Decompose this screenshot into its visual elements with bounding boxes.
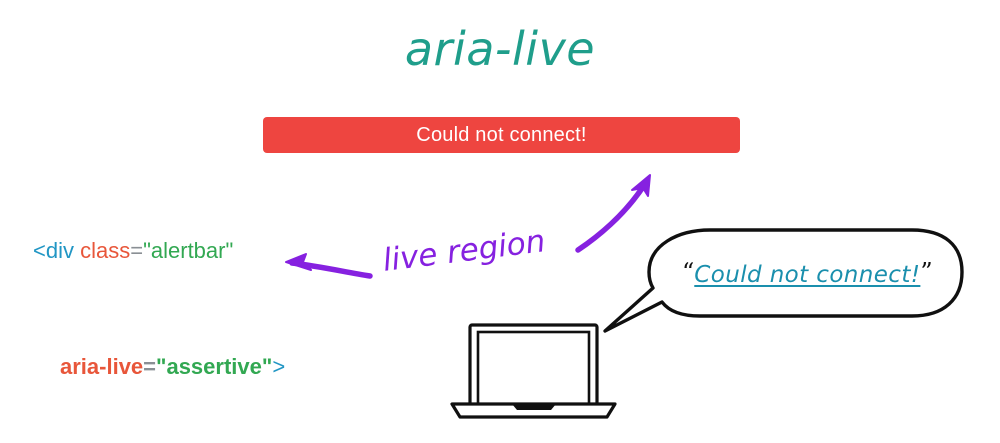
live-region-annotation: live region	[381, 223, 547, 279]
code-token-div-open: <div	[33, 238, 80, 263]
code-token-aria-live-attr: aria-live	[60, 354, 143, 379]
alert-bar-message: Could not connect!	[416, 124, 586, 147]
code-token-equals-1: =	[130, 238, 143, 263]
code-snippet: <div class="alertbar" aria-live="asserti…	[33, 178, 285, 443]
code-token-assertive-value: "assertive"	[156, 354, 272, 379]
code-token-class-attr: class	[80, 238, 130, 263]
speech-bubble-text: “Could not connect!”	[682, 258, 922, 288]
code-token-equals-2: =	[143, 354, 156, 379]
spoken-announcement: Could not connect!	[694, 262, 920, 288]
close-quote: ”	[920, 258, 932, 286]
open-quote: “	[682, 258, 694, 286]
arrow-to-alertbar-icon	[578, 175, 650, 250]
code-token-class-value: "alertbar"	[143, 238, 233, 263]
code-line-1: <div class="alertbar"	[33, 236, 285, 265]
alert-bar: Could not connect!	[263, 117, 740, 153]
arrow-to-code-icon	[286, 254, 370, 276]
diagram-canvas: aria-live Could not connect! <div class=…	[0, 0, 1000, 443]
code-line-2: aria-live="assertive">	[33, 352, 285, 381]
laptop-icon	[452, 325, 615, 417]
laptop-screen	[478, 332, 589, 406]
page-title: aria-live	[0, 22, 1000, 76]
code-token-gt: >	[272, 354, 285, 379]
